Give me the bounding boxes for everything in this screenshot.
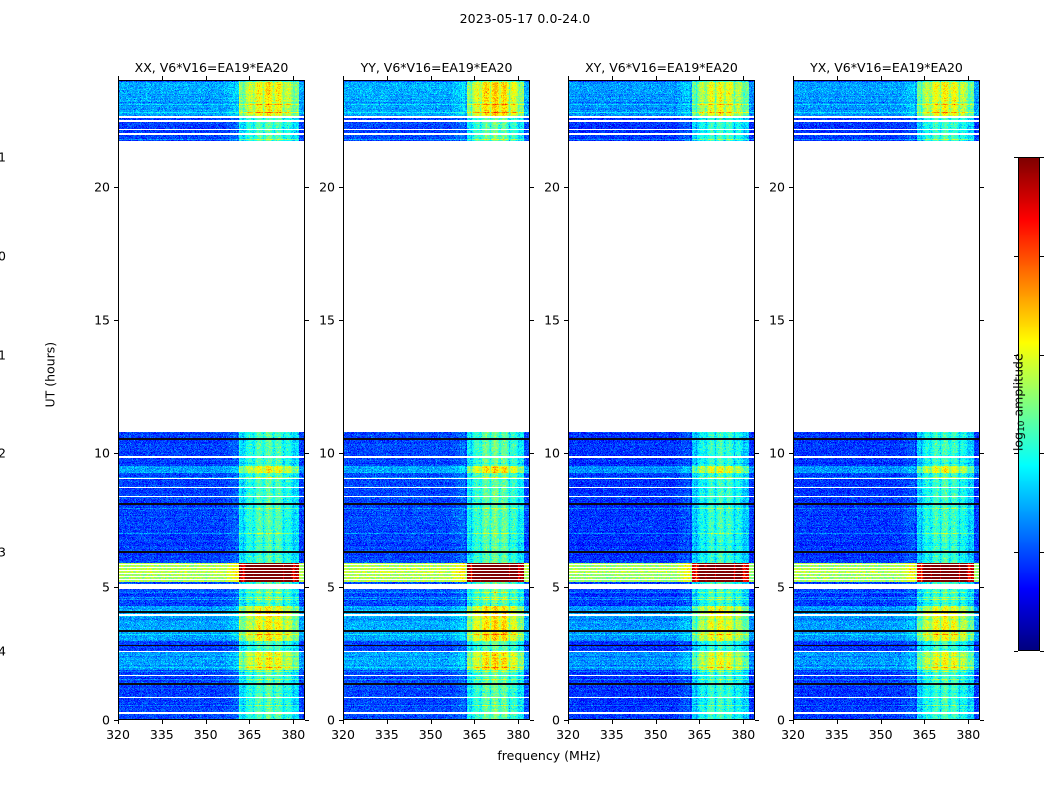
colorbar-tick-label: 1 <box>0 150 6 165</box>
y-tick-label: 20 <box>528 179 560 194</box>
y-tick-mark <box>564 320 568 321</box>
x-tick-mark-top <box>837 76 838 80</box>
x-tick-label: 320 <box>106 727 130 742</box>
y-tick-mark <box>789 720 793 721</box>
x-axis-label: frequency (MHz) <box>118 748 980 763</box>
x-tick-mark-top <box>612 76 613 80</box>
x-tick-mark <box>568 720 569 724</box>
colorbar-tick-mark-right <box>1040 552 1044 553</box>
dynamic-spectrum-image-yy <box>344 81 530 720</box>
subplot-xx: XX, V6*V16=EA19*EA20 <box>118 80 305 720</box>
x-tick-mark-top <box>699 76 700 80</box>
y-tick-mark <box>114 720 118 721</box>
x-tick-label: 365 <box>238 727 262 742</box>
subplot-yy: YY, V6*V16=EA19*EA20 <box>343 80 530 720</box>
colorbar-tick-label: −2 <box>0 446 6 461</box>
axes-frame-yy[interactable] <box>343 80 530 720</box>
y-tick-mark <box>339 320 343 321</box>
x-tick-mark-top <box>474 76 475 80</box>
y-tick-mark <box>114 453 118 454</box>
x-tick-mark-top <box>431 76 432 80</box>
x-tick-mark <box>881 720 882 724</box>
x-tick-mark <box>743 720 744 724</box>
axes-frame-yx[interactable] <box>793 80 980 720</box>
y-tick-label: 0 <box>303 713 335 728</box>
y-tick-mark <box>114 187 118 188</box>
x-tick-label: 320 <box>556 727 580 742</box>
x-tick-mark-top <box>343 76 344 80</box>
x-tick-mark <box>612 720 613 724</box>
y-tick-label: 10 <box>528 446 560 461</box>
x-tick-mark-top <box>249 76 250 80</box>
colorbar-tick-label: −4 <box>0 644 6 659</box>
y-tick-label: 15 <box>303 313 335 328</box>
y-tick-mark <box>564 187 568 188</box>
axes-frame-xx[interactable] <box>118 80 305 720</box>
x-tick-label: 350 <box>869 727 893 742</box>
x-tick-mark-top <box>881 76 882 80</box>
y-tick-mark <box>339 453 343 454</box>
subplot-title-yy: YY, V6*V16=EA19*EA20 <box>343 60 530 80</box>
subplot-title-xx: XX, V6*V16=EA19*EA20 <box>118 60 305 80</box>
colorbar-tick-label: 0 <box>0 248 6 263</box>
dynamic-spectrum-image-yx <box>794 81 980 720</box>
x-tick-mark <box>162 720 163 724</box>
y-tick-label: 5 <box>753 579 785 594</box>
y-tick-mark <box>789 587 793 588</box>
y-tick-label: 15 <box>528 313 560 328</box>
y-tick-label: 5 <box>303 579 335 594</box>
figure-canvas: 2023-05-17 0.0-24.0 XX, V6*V16=EA19*EA20… <box>0 0 1050 800</box>
y-tick-mark <box>564 720 568 721</box>
y-tick-mark <box>789 453 793 454</box>
y-tick-mark-right <box>980 453 984 454</box>
y-tick-mark <box>114 587 118 588</box>
y-tick-label: 0 <box>78 713 110 728</box>
colorbar-tick-mark <box>1014 256 1018 257</box>
y-tick-mark <box>564 587 568 588</box>
x-tick-mark-top <box>118 76 119 80</box>
x-tick-mark <box>793 720 794 724</box>
dynamic-spectrum-image-xx <box>119 81 305 720</box>
y-tick-mark <box>339 187 343 188</box>
colorbar-tick-mark <box>1014 157 1018 158</box>
colorbar-tick-mark-right <box>1040 256 1044 257</box>
x-tick-mark-top <box>656 76 657 80</box>
y-tick-label: 10 <box>78 446 110 461</box>
subplot-title-yx: YX, V6*V16=EA19*EA20 <box>793 60 980 80</box>
y-tick-label: 15 <box>78 313 110 328</box>
x-tick-label: 365 <box>913 727 937 742</box>
colorbar-tick-mark-right <box>1040 157 1044 158</box>
subplot-xy: XY, V6*V16=EA19*EA20 <box>568 80 755 720</box>
colorbar-tick-mark <box>1014 651 1018 652</box>
y-tick-mark-right <box>980 720 984 721</box>
x-tick-label: 320 <box>331 727 355 742</box>
colorbar-tick-mark-right <box>1040 651 1044 652</box>
x-tick-mark <box>699 720 700 724</box>
colorbar-tick-label: −3 <box>0 545 6 560</box>
y-tick-label: 10 <box>303 446 335 461</box>
x-tick-label: 350 <box>644 727 668 742</box>
y-tick-label: 15 <box>753 313 785 328</box>
x-tick-mark <box>474 720 475 724</box>
y-tick-label: 0 <box>528 713 560 728</box>
y-tick-mark <box>339 587 343 588</box>
colorbar-label: log10 amplitude <box>1011 353 1028 451</box>
y-tick-label: 20 <box>753 179 785 194</box>
y-tick-mark <box>564 453 568 454</box>
x-tick-mark <box>518 720 519 724</box>
colorbar-tick-label: −1 <box>0 347 6 362</box>
axes-frame-xy[interactable] <box>568 80 755 720</box>
y-tick-mark <box>339 720 343 721</box>
x-tick-label: 380 <box>281 727 305 742</box>
y-axis-label: UT (hours) <box>43 388 58 408</box>
y-tick-label: 20 <box>78 179 110 194</box>
x-tick-mark-top <box>387 76 388 80</box>
x-tick-mark-top <box>743 76 744 80</box>
y-tick-label: 5 <box>528 579 560 594</box>
x-tick-mark <box>343 720 344 724</box>
y-tick-label: 20 <box>303 179 335 194</box>
x-tick-mark <box>968 720 969 724</box>
subplot-title-xy: XY, V6*V16=EA19*EA20 <box>568 60 755 80</box>
x-tick-label: 350 <box>194 727 218 742</box>
x-tick-mark <box>293 720 294 724</box>
x-tick-label: 335 <box>600 727 624 742</box>
x-tick-mark <box>837 720 838 724</box>
x-tick-label: 365 <box>463 727 487 742</box>
x-tick-mark-top <box>162 76 163 80</box>
y-tick-mark <box>789 187 793 188</box>
y-tick-mark-right <box>980 320 984 321</box>
dynamic-spectrum-image-xy <box>569 81 755 720</box>
subplot-yx: YX, V6*V16=EA19*EA20 <box>793 80 980 720</box>
y-tick-label: 5 <box>78 579 110 594</box>
x-tick-label: 335 <box>825 727 849 742</box>
x-tick-mark-top <box>793 76 794 80</box>
x-tick-mark <box>206 720 207 724</box>
colorbar-tick-mark-right <box>1040 453 1044 454</box>
x-tick-label: 380 <box>506 727 530 742</box>
x-tick-mark-top <box>968 76 969 80</box>
y-tick-label: 0 <box>753 713 785 728</box>
y-tick-label: 10 <box>753 446 785 461</box>
colorbar-tick-mark <box>1014 552 1018 553</box>
x-tick-label: 335 <box>375 727 399 742</box>
x-tick-label: 380 <box>731 727 755 742</box>
x-tick-mark-top <box>568 76 569 80</box>
y-tick-mark-right <box>980 587 984 588</box>
x-tick-mark-top <box>293 76 294 80</box>
x-tick-label: 320 <box>781 727 805 742</box>
y-tick-mark <box>114 320 118 321</box>
x-tick-label: 365 <box>688 727 712 742</box>
x-tick-mark <box>387 720 388 724</box>
x-tick-mark <box>924 720 925 724</box>
x-tick-mark-top <box>206 76 207 80</box>
x-tick-mark <box>656 720 657 724</box>
x-tick-mark <box>118 720 119 724</box>
x-tick-mark <box>431 720 432 724</box>
x-tick-mark-top <box>924 76 925 80</box>
figure-suptitle: 2023-05-17 0.0-24.0 <box>0 11 1050 26</box>
y-tick-mark <box>789 320 793 321</box>
x-tick-mark-top <box>518 76 519 80</box>
x-tick-label: 380 <box>956 727 980 742</box>
y-tick-mark-right <box>980 187 984 188</box>
x-tick-label: 350 <box>419 727 443 742</box>
x-tick-mark <box>249 720 250 724</box>
colorbar-tick-mark-right <box>1040 355 1044 356</box>
colorbar-tick-mark <box>1014 453 1018 454</box>
x-tick-label: 335 <box>150 727 174 742</box>
